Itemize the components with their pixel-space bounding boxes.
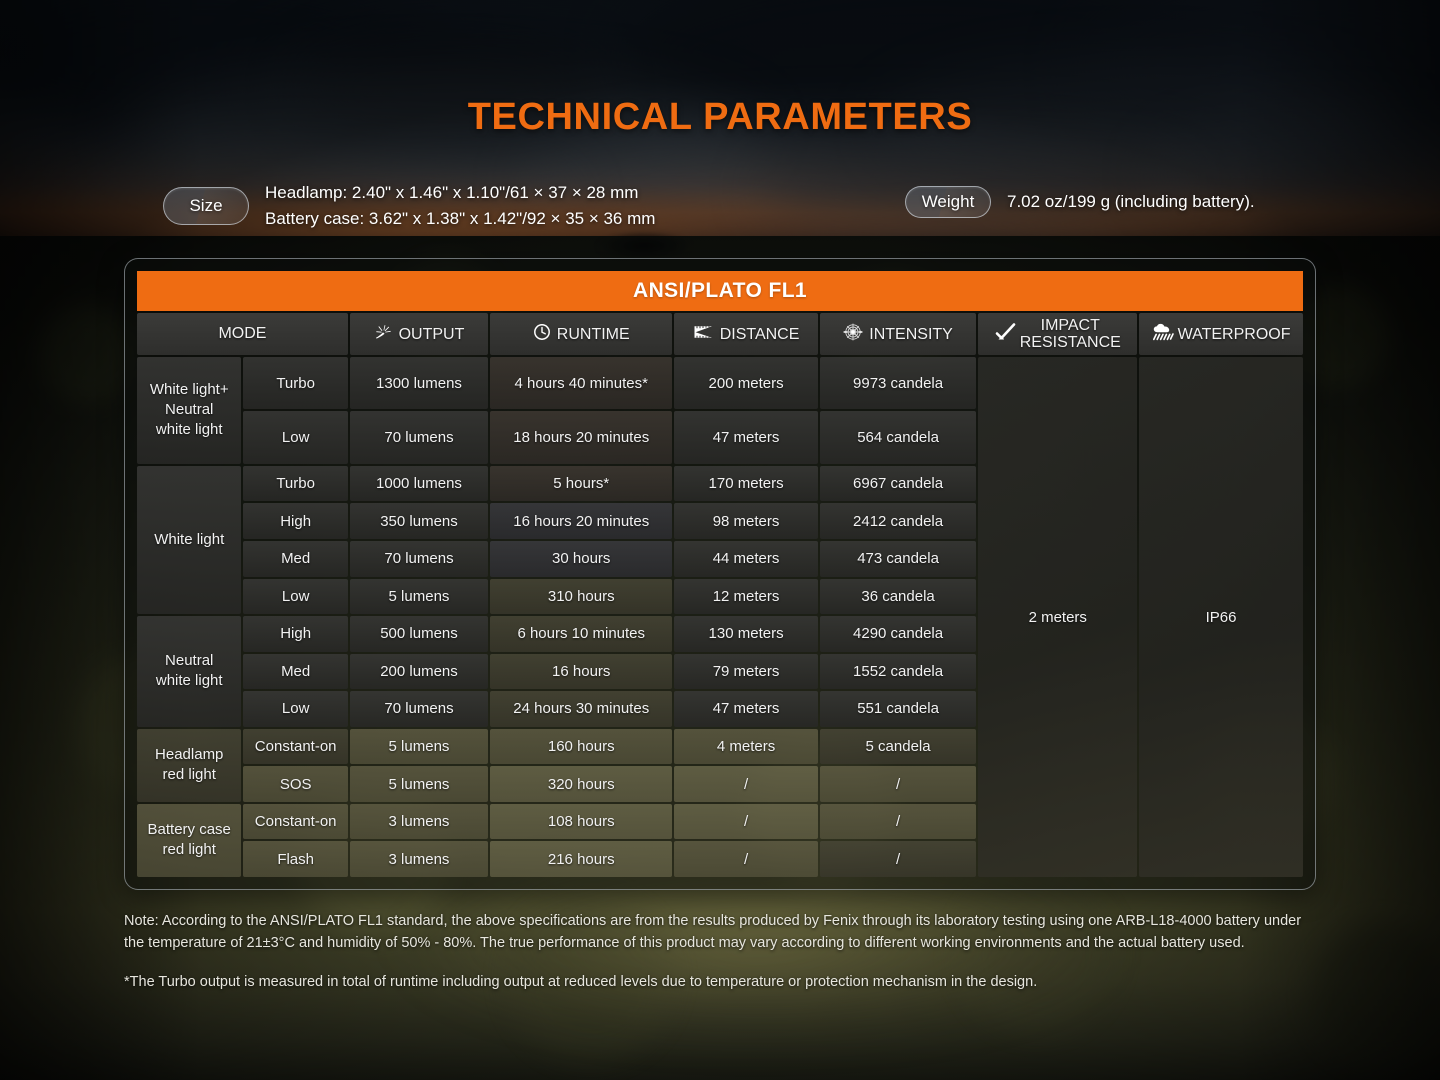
header-intensity: INTENSITY <box>820 313 977 355</box>
distance-cell: 47 meters <box>674 691 817 727</box>
output-cell: 200 lumens <box>350 654 488 690</box>
header-output: OUTPUT <box>350 313 488 355</box>
spec-table-panel: ANSI/PLATO FL1 MODE <box>124 258 1316 890</box>
intensity-cell: / <box>820 804 977 840</box>
mode-cell: High <box>243 503 347 539</box>
runtime-cell: 16 hours 20 minutes <box>490 503 672 539</box>
output-cell: 350 lumens <box>350 503 488 539</box>
burst-icon <box>374 323 393 345</box>
runtime-cell: 18 hours 20 minutes <box>490 411 672 463</box>
mode-group-label: White light <box>137 466 241 614</box>
distance-cell: 47 meters <box>674 411 817 463</box>
output-cell: 70 lumens <box>350 691 488 727</box>
intensity-cell: 5 candela <box>820 729 977 765</box>
mode-cell: Low <box>243 691 347 727</box>
weight-value: 7.02 oz/199 g (including battery). <box>1007 189 1255 215</box>
mode-group-label: Neutralwhite light <box>137 616 241 727</box>
runtime-cell: 216 hours <box>490 841 672 877</box>
spec-table: ANSI/PLATO FL1 MODE <box>135 269 1305 879</box>
mode-cell: Turbo <box>243 466 347 502</box>
table-title-row: ANSI/PLATO FL1 <box>137 271 1303 311</box>
output-cell: 5 lumens <box>350 729 488 765</box>
mode-cell: Med <box>243 654 347 690</box>
target-icon <box>843 322 863 347</box>
weight-spec-row: Weight 7.02 oz/199 g (including battery)… <box>905 186 1255 218</box>
output-cell: 1300 lumens <box>350 357 488 409</box>
intensity-cell: 36 candela <box>820 579 977 615</box>
intensity-cell: 473 candela <box>820 541 977 577</box>
clock-icon <box>533 323 551 346</box>
header-mode-label: MODE <box>218 325 266 342</box>
mode-cell: Constant-on <box>243 804 347 840</box>
header-distance: DISTANCE <box>674 313 817 355</box>
distance-cell: 4 meters <box>674 729 817 765</box>
header-waterproof: WATERPROOF <box>1139 313 1303 355</box>
mode-cell: Low <box>243 411 347 463</box>
runtime-cell: 160 hours <box>490 729 672 765</box>
mode-cell: Constant-on <box>243 729 347 765</box>
runtime-cell: 6 hours 10 minutes <box>490 616 672 652</box>
header-impact-resistance-label: IMPACT RESISTANCE <box>1020 317 1121 351</box>
impact-resistance-cell: 2 meters <box>978 357 1137 877</box>
runtime-cell: 320 hours <box>490 766 672 802</box>
distance-cell: / <box>674 766 817 802</box>
header-impact-line2: RESISTANCE <box>1020 334 1121 351</box>
weight-pill: Weight <box>905 186 991 218</box>
note-turbo-output: *The Turbo output is measured in total o… <box>124 971 1316 993</box>
table-title: ANSI/PLATO FL1 <box>137 271 1303 311</box>
output-cell: 5 lumens <box>350 579 488 615</box>
distance-cell: / <box>674 841 817 877</box>
header-waterproof-label: WATERPROOF <box>1178 326 1291 343</box>
runtime-cell: 30 hours <box>490 541 672 577</box>
rain-icon <box>1152 323 1175 346</box>
mode-group-label: White light+Neutralwhite light <box>137 357 241 464</box>
distance-cell: 200 meters <box>674 357 817 409</box>
intensity-cell: / <box>820 841 977 877</box>
size-battery-case-line: Battery case: 3.62" x 1.38" x 1.42"/92 ×… <box>265 206 655 232</box>
waterproof-cell: IP66 <box>1139 357 1303 877</box>
intensity-cell: / <box>820 766 977 802</box>
header-impact-resistance: IMPACT RESISTANCE <box>978 313 1137 355</box>
header-runtime: RUNTIME <box>490 313 672 355</box>
size-spec-text: Headlamp: 2.40" x 1.46" x 1.10"/61 × 37 … <box>265 180 655 232</box>
output-cell: 70 lumens <box>350 411 488 463</box>
mode-cell: SOS <box>243 766 347 802</box>
table-row: White light+Neutralwhite light Turbo 130… <box>137 357 1303 409</box>
weight-pill-label: Weight <box>922 192 975 212</box>
intensity-cell: 4290 candela <box>820 616 977 652</box>
output-cell: 5 lumens <box>350 766 488 802</box>
size-pill: Size <box>163 187 249 225</box>
note-ansi-standard: Note: According to the ANSI/PLATO FL1 st… <box>124 910 1316 954</box>
distance-cell: 79 meters <box>674 654 817 690</box>
output-cell: 1000 lumens <box>350 466 488 502</box>
header-impact-line1: IMPACT <box>1020 317 1121 334</box>
output-cell: 70 lumens <box>350 541 488 577</box>
size-pill-label: Size <box>189 196 222 216</box>
mode-group-label: Headlampred light <box>137 729 241 802</box>
output-cell: 500 lumens <box>350 616 488 652</box>
intensity-cell: 1552 candela <box>820 654 977 690</box>
intensity-cell: 551 candela <box>820 691 977 727</box>
mode-group-label: Battery casered light <box>137 804 241 877</box>
mode-cell: Flash <box>243 841 347 877</box>
size-spec-row: Size Headlamp: 2.40" x 1.46" x 1.10"/61 … <box>163 180 655 232</box>
header-intensity-label: INTENSITY <box>869 326 953 343</box>
distance-cell: / <box>674 804 817 840</box>
mode-cell: High <box>243 616 347 652</box>
distance-cell: 12 meters <box>674 579 817 615</box>
distance-cell: 170 meters <box>674 466 817 502</box>
intensity-cell: 2412 candela <box>820 503 977 539</box>
distance-cell: 98 meters <box>674 503 817 539</box>
page-root: TECHNICAL PARAMETERS Size Headlamp: 2.40… <box>0 0 1440 1080</box>
runtime-cell: 310 hours <box>490 579 672 615</box>
runtime-cell: 108 hours <box>490 804 672 840</box>
distance-cell: 130 meters <box>674 616 817 652</box>
intensity-cell: 564 candela <box>820 411 977 463</box>
runtime-cell: 4 hours 40 minutes* <box>490 357 672 409</box>
header-mode: MODE <box>137 313 348 355</box>
header-distance-label: DISTANCE <box>720 326 800 343</box>
runtime-cell: 16 hours <box>490 654 672 690</box>
page-title: TECHNICAL PARAMETERS <box>0 96 1440 139</box>
output-cell: 3 lumens <box>350 804 488 840</box>
header-runtime-label: RUNTIME <box>557 326 630 343</box>
mode-cell: Low <box>243 579 347 615</box>
runtime-cell: 5 hours* <box>490 466 672 502</box>
runtime-cell: 24 hours 30 minutes <box>490 691 672 727</box>
output-cell: 3 lumens <box>350 841 488 877</box>
distance-cell: 44 meters <box>674 541 817 577</box>
mode-cell: Med <box>243 541 347 577</box>
footnotes: Note: According to the ANSI/PLATO FL1 st… <box>124 910 1316 993</box>
mode-cell: Turbo <box>243 357 347 409</box>
size-headlamp-line: Headlamp: 2.40" x 1.46" x 1.10"/61 × 37 … <box>265 180 655 206</box>
intensity-cell: 6967 candela <box>820 466 977 502</box>
beam-icon <box>693 324 714 345</box>
header-output-label: OUTPUT <box>399 326 465 343</box>
table-header-row: MODE <box>137 313 1303 355</box>
checkmark-icon <box>995 321 1017 348</box>
intensity-cell: 9973 candela <box>820 357 977 409</box>
